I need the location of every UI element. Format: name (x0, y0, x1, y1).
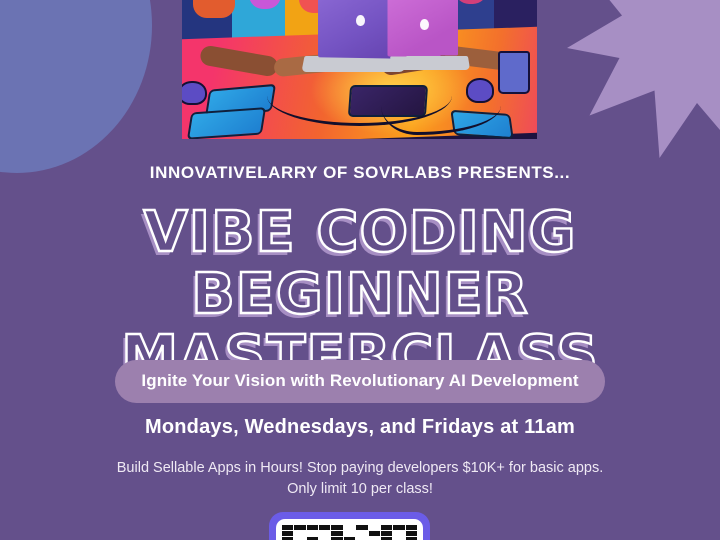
qr-cell (307, 531, 318, 536)
apple-logo-icon (419, 19, 428, 30)
qr-code-matrix (282, 525, 417, 540)
qr-code-inner (276, 519, 423, 540)
apple-logo-icon (356, 15, 365, 26)
qr-cell (381, 531, 392, 536)
qr-cell (406, 531, 417, 536)
tagline-badge-row: Ignite Your Vision with Revolutionary AI… (0, 360, 720, 403)
qr-code[interactable] (269, 512, 430, 540)
laptop-lid (388, 0, 458, 56)
schedule-text: Mondays, Wednesdays, and Fridays at 11am (0, 416, 720, 439)
qr-cell (307, 525, 318, 530)
pen-cup (498, 51, 530, 94)
qr-cell (406, 525, 417, 530)
qr-cell (381, 525, 392, 530)
presenter-line: INNOVATIVELARRY OF SOVRLABS PRESENTS... (0, 163, 720, 183)
mouse-device (182, 81, 207, 106)
title-line-one: VIBE CODING BEGINNER (0, 202, 720, 326)
qr-cell (294, 525, 305, 530)
person-shirt (193, 0, 236, 18)
tablet-device (187, 107, 266, 139)
qr-cell (331, 525, 342, 530)
laptop-base (390, 56, 470, 70)
hero-illustration (182, 0, 537, 139)
qr-cell (331, 531, 342, 536)
qr-cell (393, 525, 404, 530)
qr-cell (294, 531, 305, 536)
qr-cell (356, 531, 367, 536)
hero-artwork (182, 0, 537, 139)
poster-canvas: INNOVATIVELARRY OF SOVRLABS PRESENTS... … (0, 0, 720, 540)
qr-cell (369, 525, 380, 530)
qr-cell (282, 525, 293, 530)
qr-cell (393, 531, 404, 536)
qr-cell (282, 531, 293, 536)
qr-cell (319, 531, 330, 536)
qr-cell (369, 531, 380, 536)
description-text: Build Sellable Apps in Hours! Stop payin… (110, 458, 610, 500)
qr-cell (319, 525, 330, 530)
starburst-shape (567, 0, 720, 158)
qr-cell (356, 525, 367, 530)
tagline-badge: Ignite Your Vision with Revolutionary AI… (115, 360, 604, 403)
qr-cell (344, 525, 355, 530)
qr-cell (344, 531, 355, 536)
top-left-blob-shape (0, 0, 152, 173)
mouse-device (466, 78, 494, 103)
